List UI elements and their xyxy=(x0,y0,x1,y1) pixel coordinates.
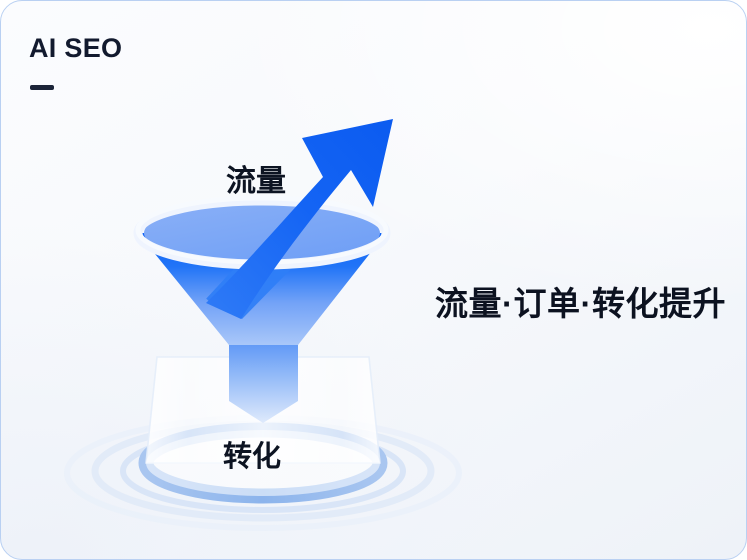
label-traffic: 流量 xyxy=(226,156,286,200)
tagline-text: 流量·订单·转化提升 xyxy=(435,277,726,325)
brand-title: AI SEO xyxy=(29,35,122,62)
brand-accent-rule xyxy=(30,85,54,90)
ai-seo-banner-card: 流量 转化 AI SEO 流量·订单·转化提升 xyxy=(0,0,747,560)
label-conversion: 转化 xyxy=(223,433,281,475)
